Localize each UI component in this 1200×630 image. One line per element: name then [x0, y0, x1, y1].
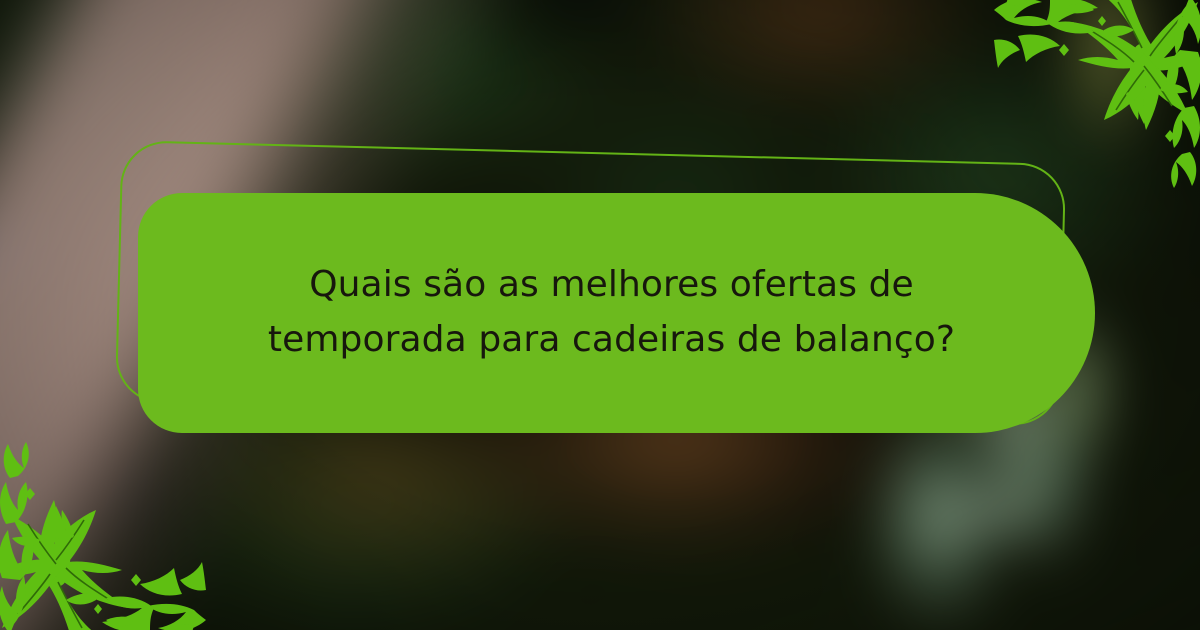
floral-filigree-ornament-bottom-left [0, 424, 206, 630]
headline-card: Quais são as melhores ofertas de tempora… [138, 193, 1095, 433]
headline-text: Quais são as melhores ofertas de tempora… [152, 258, 1082, 367]
social-card-canvas: Quais são as melhores ofertas de tempora… [0, 0, 1200, 630]
